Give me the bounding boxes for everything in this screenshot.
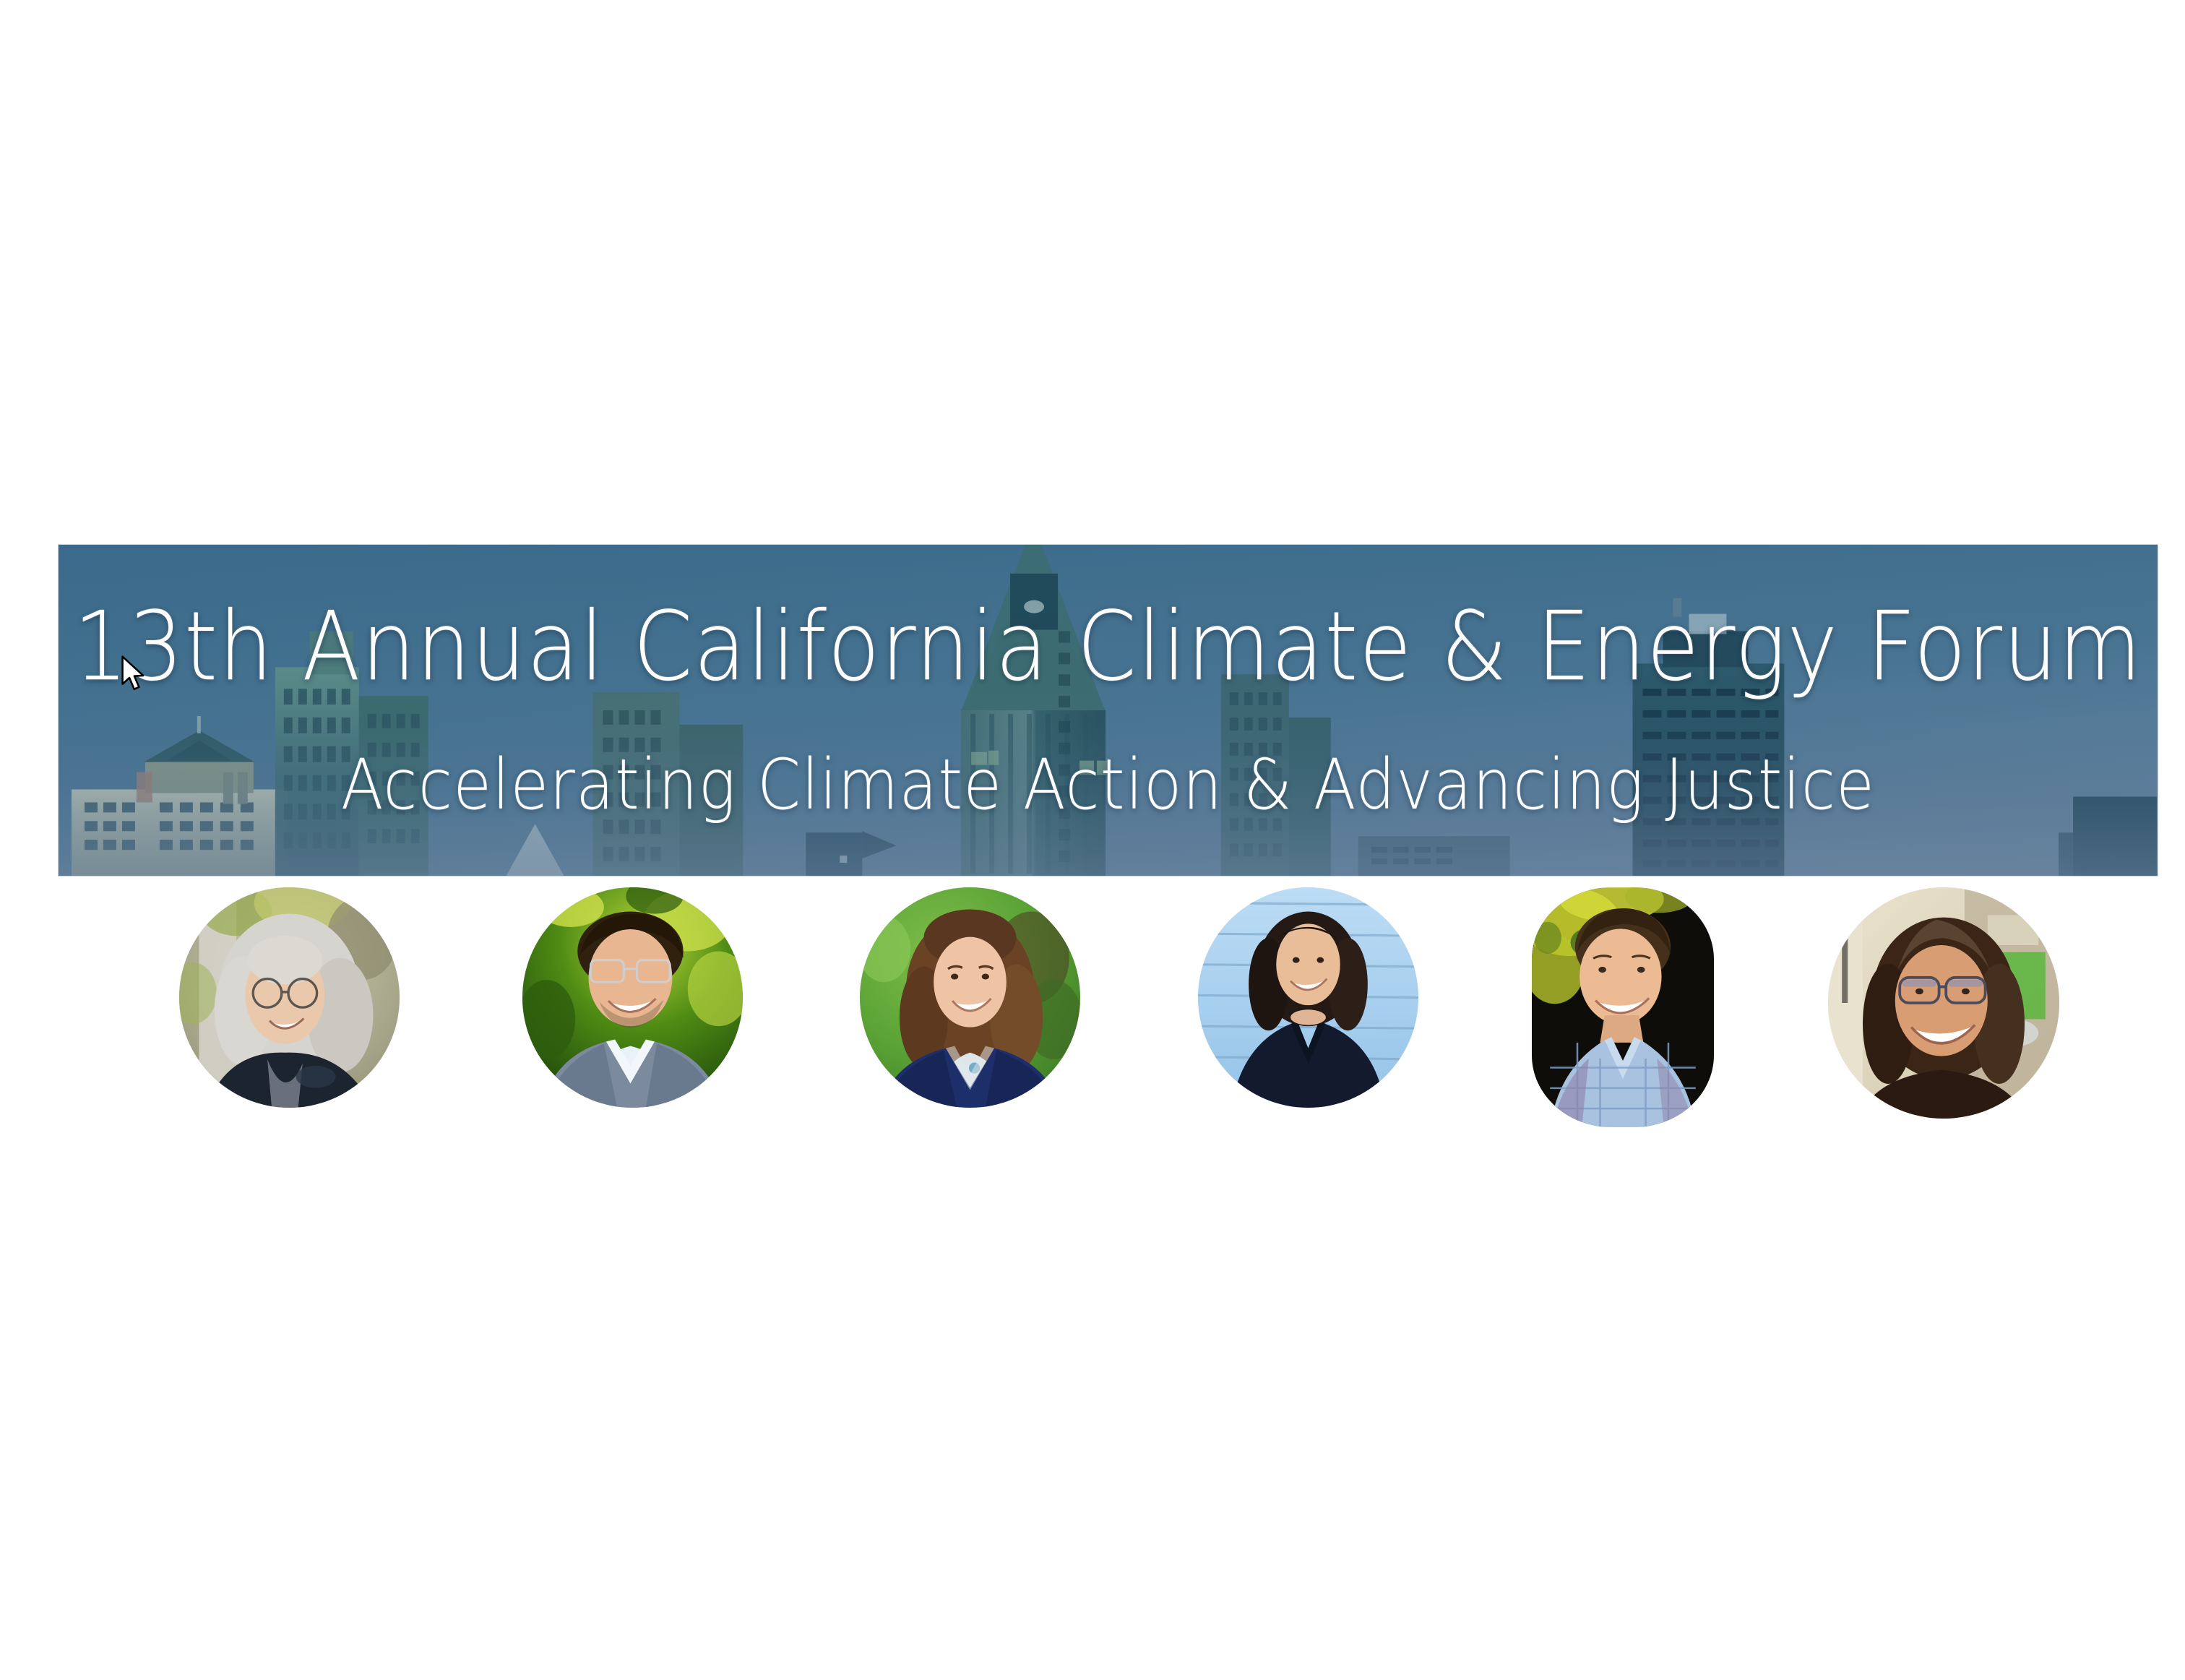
speaker-portrait-6 [1828, 887, 2059, 1119]
speaker-portrait-5 [1532, 887, 1714, 1127]
speaker-avatar-5[interactable] [1532, 887, 1714, 1127]
banner-subtitle: Accelerating Climate Action & Advancing … [341, 749, 1876, 822]
speaker-portrait-3 [860, 887, 1080, 1108]
speaker-avatar-6[interactable] [1828, 887, 2059, 1119]
speaker-photo-row [58, 887, 2158, 1147]
speaker-avatar-3[interactable] [860, 887, 1080, 1108]
speaker-portrait-1 [179, 887, 400, 1108]
event-banner[interactable]: 13th Annual California Climate & Energy … [58, 544, 2158, 876]
speaker-portrait-2 [522, 887, 743, 1108]
speaker-avatar-1[interactable] [179, 887, 400, 1108]
speaker-avatar-4[interactable] [1198, 887, 1418, 1108]
speaker-avatar-2[interactable] [522, 887, 743, 1108]
banner-text-block: 13th Annual California Climate & Energy … [59, 545, 2158, 876]
speaker-portrait-4 [1198, 887, 1418, 1108]
banner-title: 13th Annual California Climate & Energy … [74, 597, 2143, 697]
